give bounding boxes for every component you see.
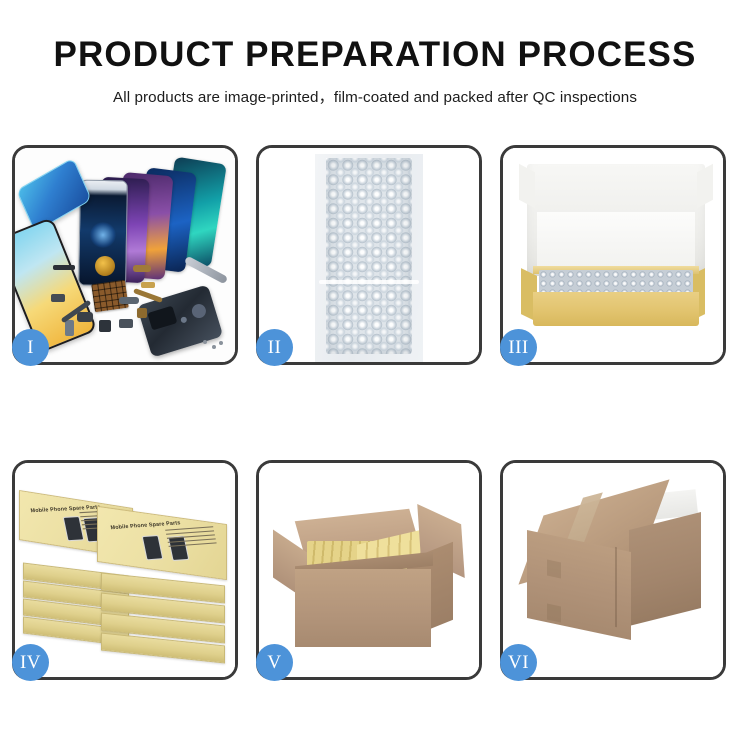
process-step-grid: I II <box>12 145 738 680</box>
open-carton-scene <box>259 463 479 677</box>
small-part <box>133 265 151 272</box>
small-part <box>141 282 155 288</box>
printed-box-stack-scene: Mobile Phone Spare Parts Mobile Phone Sp… <box>15 463 235 677</box>
small-part <box>99 320 111 332</box>
box-print-text-lines <box>165 526 217 552</box>
header: PRODUCT PREPARATION PROCESS All products… <box>0 0 750 107</box>
product-preparation-infographic: PRODUCT PREPARATION PROCESS All products… <box>0 0 750 750</box>
process-step-5: V <box>256 460 482 680</box>
step-2-image <box>259 148 479 362</box>
page-title: PRODUCT PREPARATION PROCESS <box>0 0 750 74</box>
process-step-3: III <box>500 145 726 365</box>
bubble-wrap-scene <box>259 148 479 362</box>
process-step-2: II <box>256 145 482 365</box>
step-badge-4: IV <box>12 644 49 681</box>
step-1-image <box>15 148 235 362</box>
carton-right-face <box>629 512 701 626</box>
carton-tab <box>547 560 561 579</box>
carton-edge-seam <box>615 547 617 627</box>
step-badge-2: II <box>256 329 293 366</box>
step-badge-1: I <box>12 329 49 366</box>
carton-tab <box>547 604 561 623</box>
page-subtitle: All products are image-printed，film-coat… <box>0 74 750 107</box>
bubble-wrap-bubbles <box>326 158 412 354</box>
small-part <box>119 319 133 328</box>
process-step-1: I <box>12 145 238 365</box>
small-part <box>119 297 139 304</box>
step-badge-6: VI <box>500 644 537 681</box>
step-3-image <box>503 148 723 362</box>
wrap-seam <box>319 280 419 284</box>
carton-front-face <box>295 569 431 647</box>
phone-parts-scene <box>15 148 235 362</box>
step-5-image <box>259 463 479 677</box>
small-part <box>53 265 75 270</box>
box-front-panel <box>533 292 699 326</box>
process-step-4: Mobile Phone Spare Parts Mobile Phone Sp… <box>12 460 238 680</box>
step-4-image: Mobile Phone Spare Parts Mobile Phone Sp… <box>15 463 235 677</box>
speaker-part <box>95 256 115 276</box>
screws <box>203 340 223 352</box>
sealed-carton-scene <box>503 463 723 677</box>
open-inner-box-scene <box>503 148 723 362</box>
small-part <box>51 294 65 302</box>
process-step-6: VI <box>500 460 726 680</box>
small-part <box>77 312 93 322</box>
foam-liner <box>537 212 695 274</box>
step-6-image <box>503 463 723 677</box>
printed-box-top-right: Mobile Phone Spare Parts <box>97 506 227 580</box>
small-part <box>137 308 147 318</box>
step-badge-5: V <box>256 644 293 681</box>
small-part <box>65 320 74 336</box>
step-badge-3: III <box>500 329 537 366</box>
chip-grid-part <box>91 280 129 312</box>
